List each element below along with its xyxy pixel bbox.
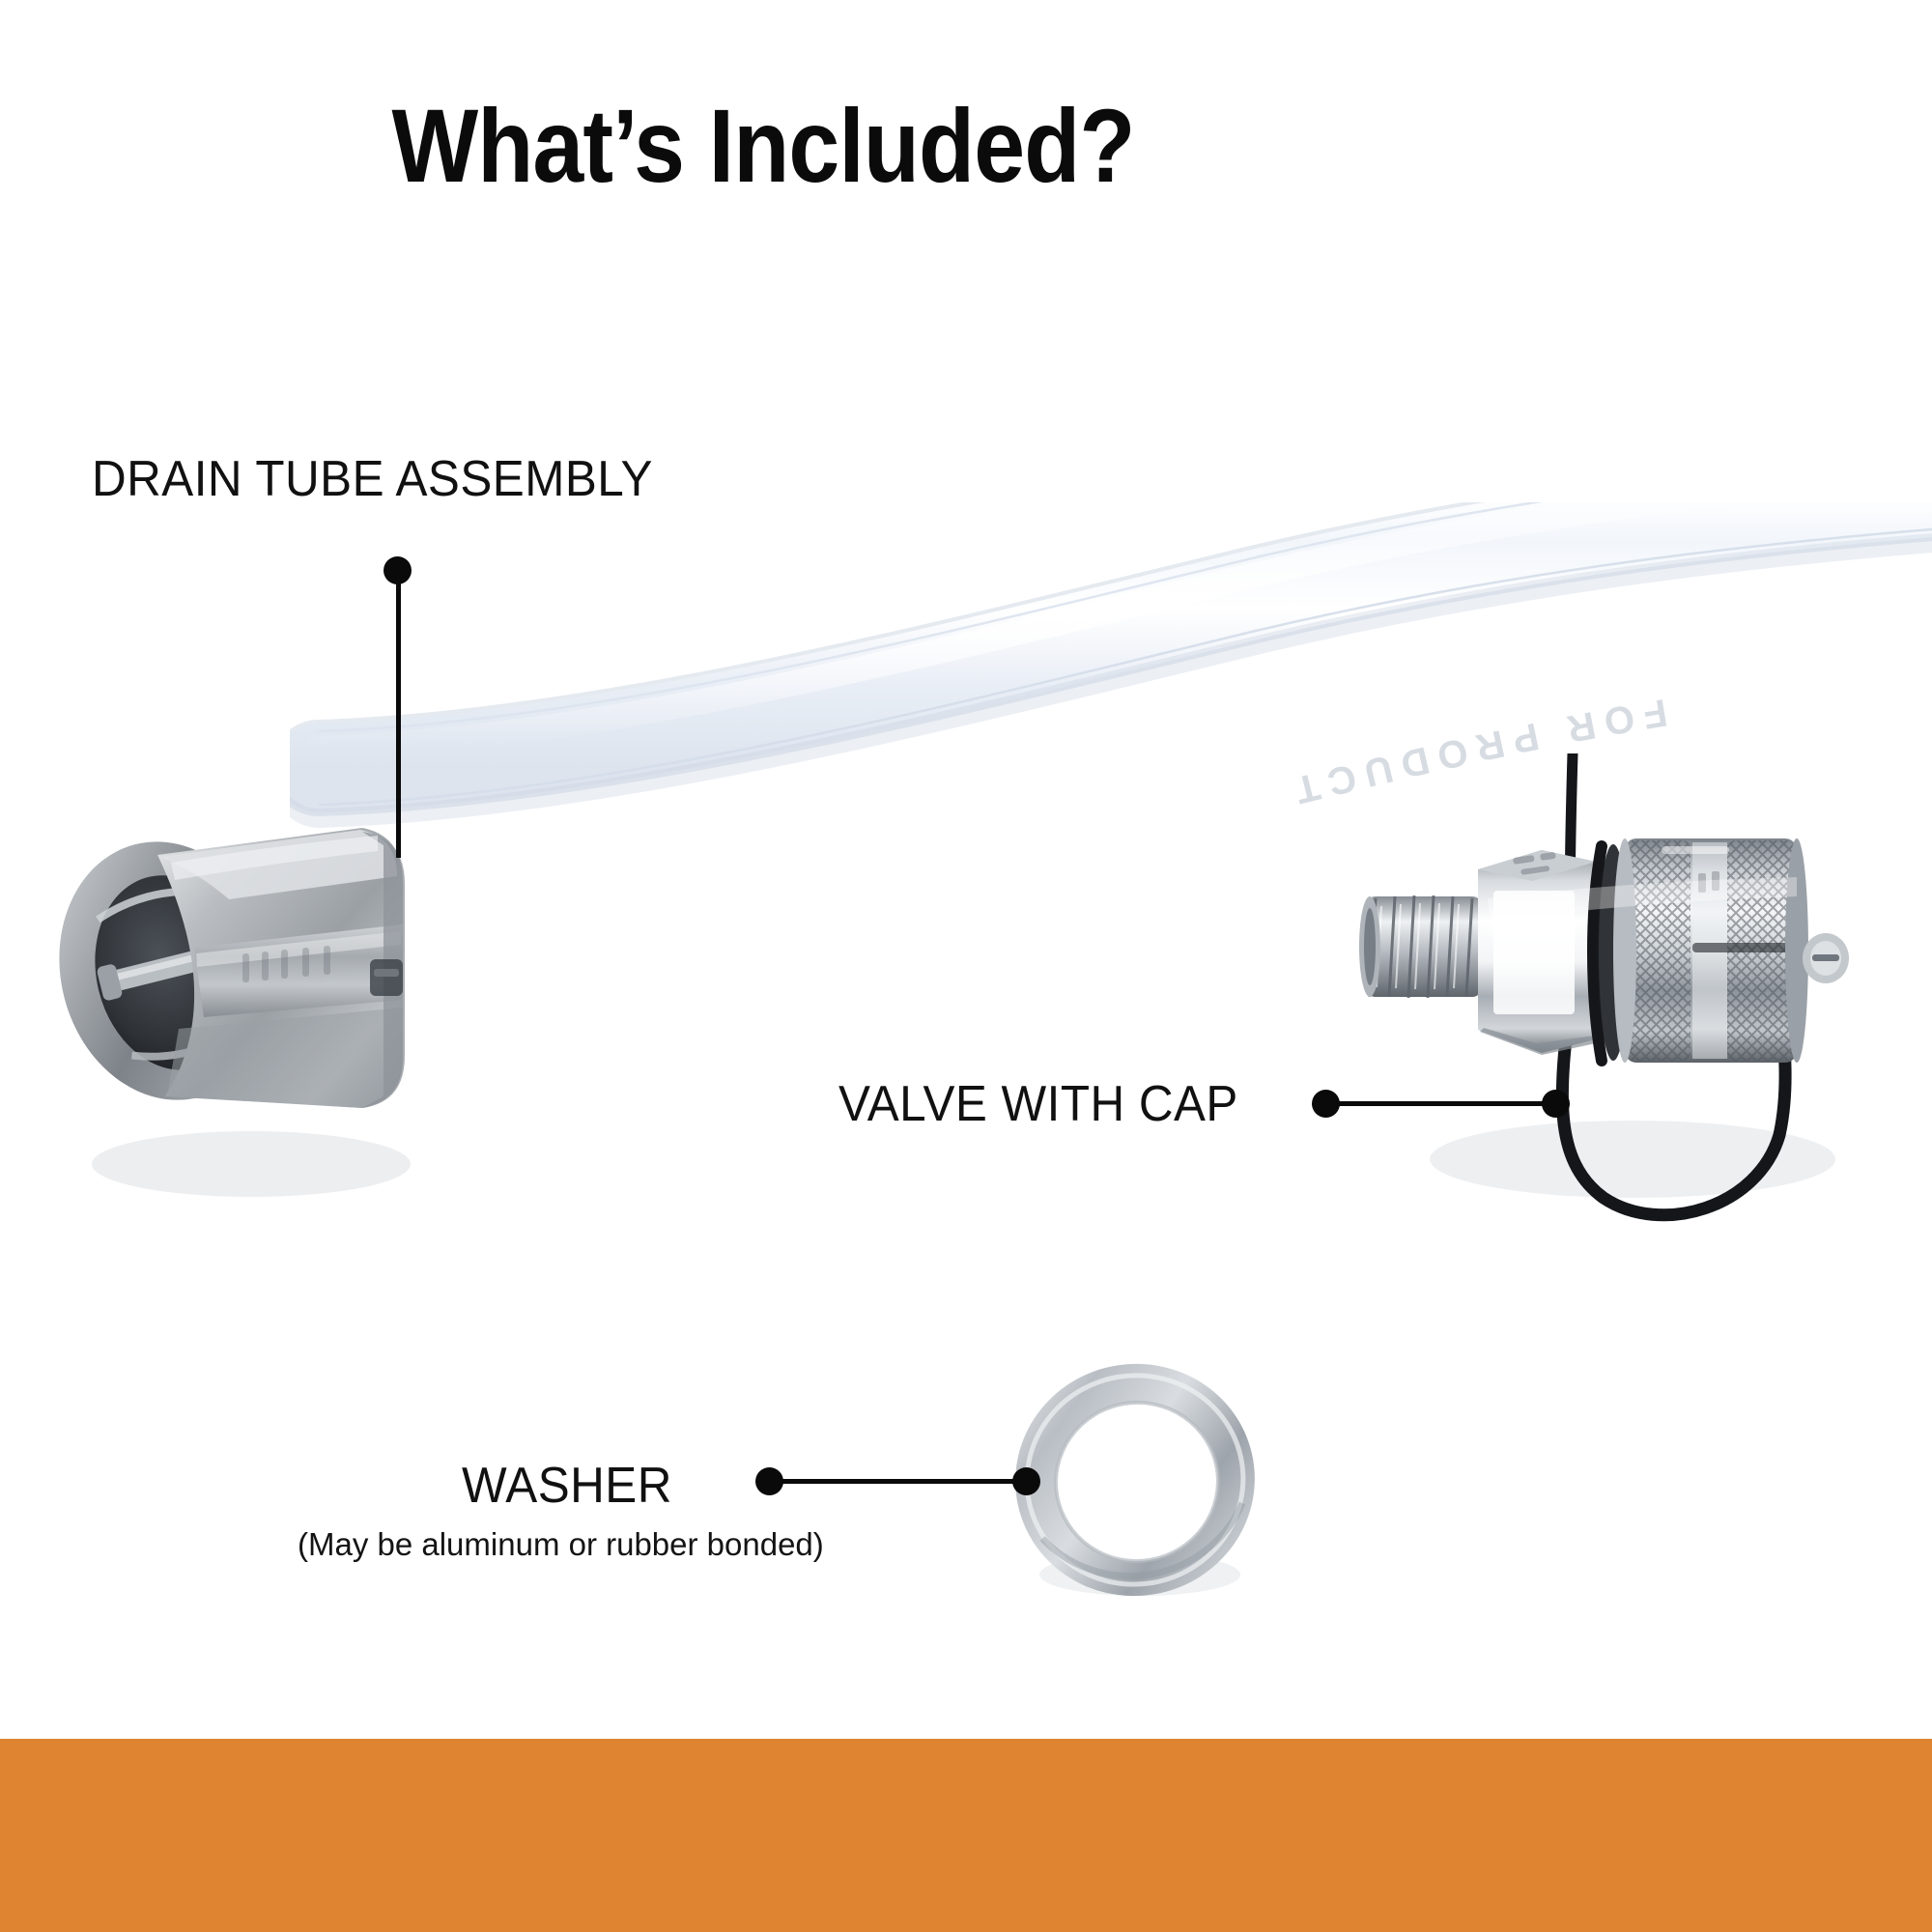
leader-dot-washer-part-end bbox=[1012, 1467, 1040, 1495]
callout-label-valve-with-cap: VALVE WITH CAP bbox=[838, 1075, 1238, 1133]
leader-dot-valve-part-end bbox=[1542, 1090, 1570, 1118]
leader-line-drain-tube bbox=[396, 580, 401, 858]
callout-label-washer: WASHER bbox=[462, 1457, 672, 1515]
leader-line-washer bbox=[773, 1479, 1026, 1484]
callout-sublabel-washer: (May be aluminum or rubber bonded) bbox=[298, 1526, 824, 1563]
page-title: What’s Included? bbox=[92, 85, 1435, 206]
leader-line-valve bbox=[1335, 1101, 1555, 1106]
washer-graphic bbox=[1005, 1352, 1265, 1613]
valve-with-cap-graphic bbox=[1343, 753, 1884, 1304]
infographic-canvas: What’s Included? bbox=[0, 0, 1932, 1932]
callout-label-drain-tube-assembly: DRAIN TUBE ASSEMBLY bbox=[92, 450, 653, 508]
footer-accent-band bbox=[0, 1739, 1932, 1932]
